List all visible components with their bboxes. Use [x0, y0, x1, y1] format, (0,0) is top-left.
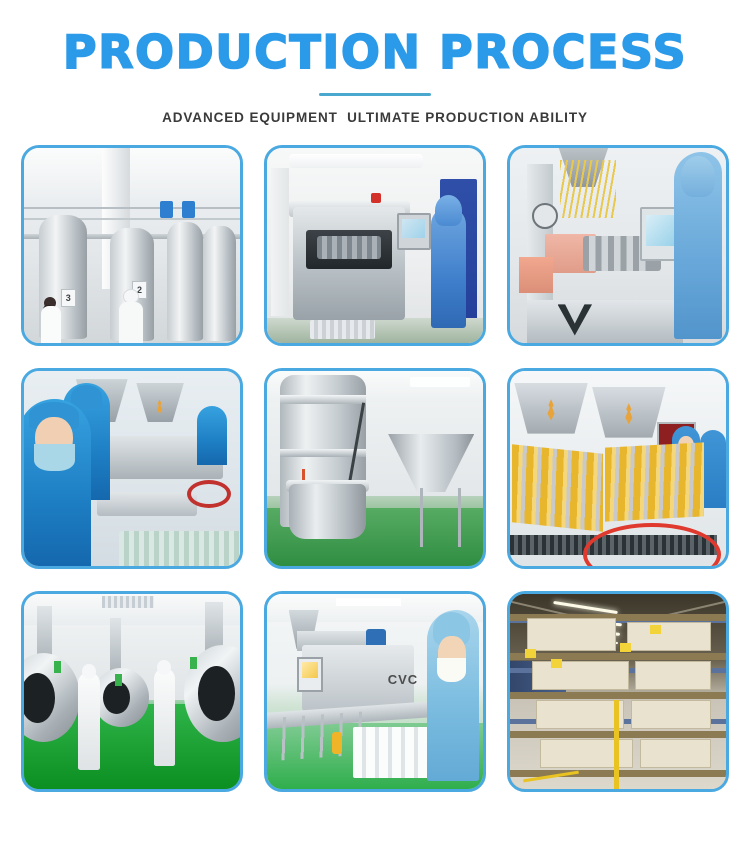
worker-figure	[78, 672, 100, 770]
operator-figure	[674, 152, 722, 339]
scene-extraction-tanks: 3 2	[24, 148, 240, 343]
title-divider	[319, 93, 431, 96]
operator-figure	[427, 610, 479, 782]
photo-card-capsule-filling[interactable]	[21, 368, 243, 569]
tank-number-label: 3	[61, 289, 76, 307]
scene-bottle-filling: CVC	[267, 594, 483, 789]
scene-packaging-machine	[510, 148, 726, 343]
scene-tablet-press	[267, 148, 483, 343]
scene-capsule-sorting	[510, 371, 726, 566]
scene-capsule-filling	[24, 371, 240, 566]
photo-card-extraction-tanks[interactable]: 3 2	[21, 145, 243, 346]
photo-card-packaging-machine[interactable]	[507, 145, 729, 346]
scene-warehouse	[510, 594, 726, 789]
photo-card-coating-pans[interactable]	[21, 591, 243, 792]
worker-figure	[197, 406, 227, 465]
page-header: PRODUCTION PROCESS ADVANCED EQUIPMENT UL…	[0, 0, 750, 125]
operator-figure	[431, 207, 466, 328]
scene-coating-pans	[24, 594, 240, 789]
worker-figure	[119, 289, 143, 344]
page-title: PRODUCTION PROCESS	[0, 28, 750, 76]
photo-gallery-grid: 3 2	[21, 145, 729, 792]
worker-figure	[154, 668, 176, 766]
page-subtitle: ADVANCED EQUIPMENT ULTIMATE PRODUCTION A…	[0, 110, 750, 125]
worker-figure	[24, 399, 91, 567]
production-process-page: PRODUCTION PROCESS ADVANCED EQUIPMENT UL…	[0, 0, 750, 843]
photo-card-tablet-press[interactable]	[264, 145, 486, 346]
photo-card-capsule-sorting[interactable]	[507, 368, 729, 569]
scene-fluid-bed-dryer	[267, 371, 483, 566]
worker-figure	[41, 297, 60, 344]
photo-card-bottle-filling[interactable]: CVC	[264, 591, 486, 792]
photo-card-fluid-bed-dryer[interactable]	[264, 368, 486, 569]
photo-card-warehouse[interactable]	[507, 591, 729, 792]
